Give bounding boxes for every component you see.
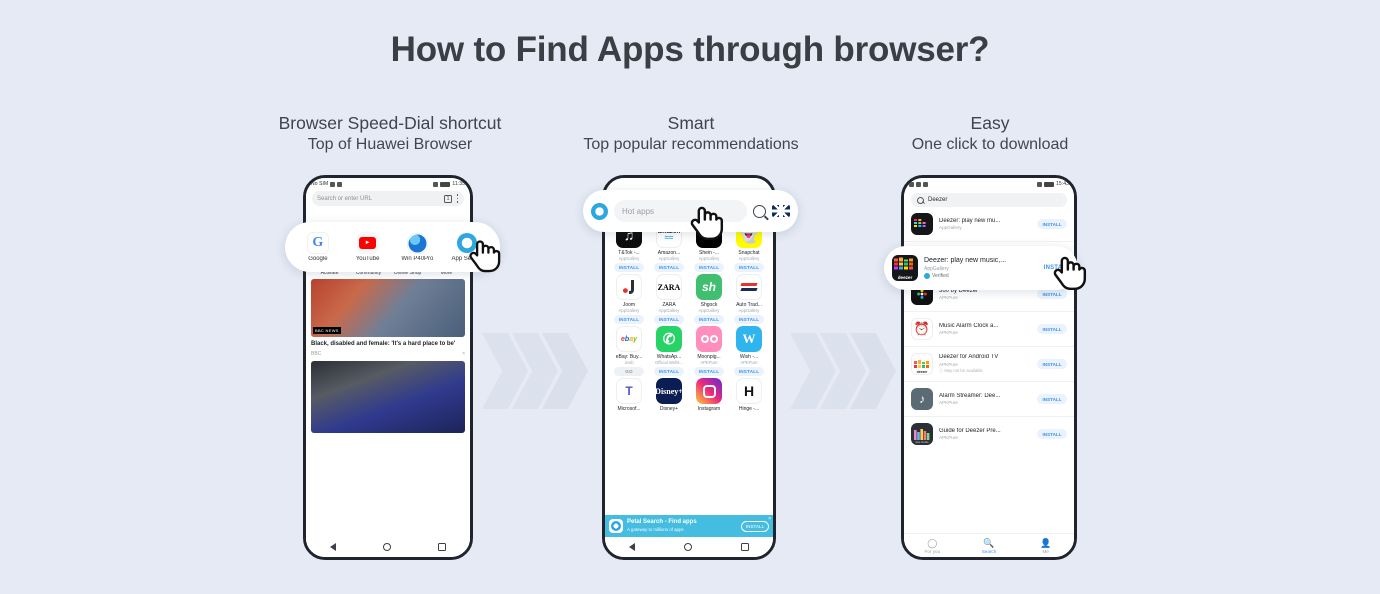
clock-label: 15:43 [1056,181,1069,187]
search-query: Deezer [928,197,947,203]
tab-count-button[interactable]: 1 [444,195,452,203]
bottom-tab-bar[interactable]: ◯ For you 🔍 Search 👤 Me [904,533,1074,557]
app-cell[interactable]: sh Shgock AppGallery INSTALL [689,274,729,324]
install-button[interactable]: INSTALL [734,263,764,272]
install-button[interactable]: INSTALL [734,367,764,376]
search-icon [917,197,924,204]
result-row[interactable]: Deezer: play new mu... AppGallery INSTAL… [904,207,1074,242]
youtube-icon: ► [357,232,379,254]
android-navbar[interactable] [306,537,470,557]
result-row[interactable]: ⏰ Music Alarm Clock a... APKPure INSTALL [904,312,1074,347]
callout-app-name: Deezer: play new music,... [924,257,1038,264]
result-row[interactable]: App Guide Guide for Deezer Pre... APKPur… [904,417,1074,451]
browser-url-bar[interactable]: Search or enter URL 1 [312,191,464,206]
sim-status-label: No SIM [311,181,328,187]
vpn-icon [1037,182,1042,187]
callout-deezer-result[interactable]: deezer Deezer: play new music,... AppGal… [884,246,1078,290]
bluetooth-icon [923,182,928,187]
install-button[interactable]: INSTALL [1037,429,1067,439]
search-icon[interactable] [753,205,766,218]
url-placeholder: Search or enter URL [317,196,444,202]
column-3-title: Easy [810,112,1170,134]
phone-mockup-app-market: 🏅 1 - 16 32 48 64 80 96 ♫ T&Tok -... App… [602,175,776,560]
install-button[interactable]: INSTALL [1037,324,1067,334]
hinge-icon: H [736,378,762,404]
back-icon[interactable] [330,543,336,551]
arrow-group-2 [790,333,902,409]
arrow-group-1 [482,333,594,409]
vpn-icon [433,182,438,187]
petal-search-icon [609,519,623,533]
wish-icon: W [736,326,762,352]
result-name: Music Alarm Clock a... [939,323,1031,329]
promo-banner[interactable]: Petal Search - Find apps A gateway to mi… [605,515,773,537]
column-headings: Browser Speed-Dial shortcut Top of Huawe… [0,112,1380,162]
install-button[interactable]: INSTALL [654,263,684,272]
whatsapp-icon: ✆ [656,326,682,352]
app-cell[interactable]: ebay eBay: Buy... Joob GO [609,326,649,376]
zara-icon: ZARA [656,274,682,300]
battery-icon [1044,182,1054,187]
column-3-subtitle: One click to download [810,134,1170,156]
music-alarm-icon: ⏰ [911,318,933,340]
back-icon[interactable] [629,543,635,551]
uk-flag-icon[interactable] [772,205,790,217]
app-cell[interactable]: ZARA ZARA AppGallery INSTALL [649,274,689,324]
callout-item-google[interactable]: G Google [293,232,343,262]
instagram-icon [696,378,722,404]
result-name: Deezer: play new mu... [939,218,1031,224]
result-row[interactable]: ♪ Alarm Streamer: Dee... APKPure INSTALL [904,382,1074,417]
wifi-icon [330,182,335,187]
deezer-icon [911,213,933,235]
tab-me[interactable]: 👤 Me [1017,538,1074,554]
bluetooth-icon [337,182,342,187]
app-cell[interactable]: T Microsof... [609,378,649,412]
tab-search[interactable]: 🔍 Search [961,538,1018,554]
phone-mockup-search-results: 15:43 Deezer [901,175,1077,560]
status-bar: 15:43 [904,178,1074,190]
news-image: BBC NEWS [311,279,465,337]
page-title: How to Find Apps through browser? [0,30,1380,70]
result-source: APKPure [939,400,1031,405]
app-cell[interactable]: H Hinge -... [729,378,769,412]
install-button[interactable]: INSTALL [1044,265,1070,271]
app-grid[interactable]: ♫ T&Tok -... AppGallery INSTALL amazon ≈… [605,220,773,414]
result-name: Guide for Deezer Pre... [939,428,1031,434]
app-cell[interactable]: Moonpig... APKPure INSTALL [689,326,729,376]
moonpig-icon [696,326,722,352]
android-navbar[interactable] [605,537,773,557]
app-cell[interactable]: Instagram [689,378,729,412]
install-button[interactable]: INSTALL [1037,394,1067,404]
callout-item-app-search[interactable]: App Search [442,232,492,262]
me-icon: 👤 [1017,538,1074,549]
install-button[interactable]: INSTALL [614,315,644,324]
ebay-icon: ebay [616,326,642,352]
battery-icon [440,182,450,187]
install-button[interactable]: INSTALL [614,263,644,272]
install-button[interactable]: INSTALL [1037,219,1067,229]
callout-app-source: AppGallery [924,266,1038,272]
close-icon[interactable]: × [462,351,465,357]
column-heading-3: Easy One click to download [810,112,1170,156]
for-you-icon: ◯ [904,538,961,549]
tab-for-you[interactable]: ◯ For you [904,538,961,554]
deezer-tv-icon: deezer [911,353,933,375]
callout-item-win-p40pro[interactable]: Win P40Pro [393,232,443,262]
news-source-row: BBC × [311,351,465,357]
install-button[interactable]: INSTALL [1037,289,1067,299]
callout-hot-apps-search[interactable]: Hot apps [583,190,798,232]
app-cell[interactable]: ✆ WhatsAp... Official Webs... INSTALL [649,326,689,376]
petal-search-logo-icon [591,203,608,220]
go-button[interactable]: GO [614,367,644,376]
app-cell[interactable]: Auto Trad... AppGallery INSTALL [729,274,769,324]
result-source: APKPure [939,330,1031,335]
install-button[interactable]: INSTALL [654,315,684,324]
autotrader-icon [736,274,762,300]
install-button[interactable]: INSTALL [694,315,724,324]
infographic-page: How to Find Apps through browser? Browse… [0,0,1380,594]
results-list[interactable]: Deezer: play new mu... AppGallery INSTAL… [904,207,1074,451]
huawei-globe-icon [406,232,428,254]
alarm-streamer-icon: ♪ [911,388,933,410]
result-row[interactable]: deezer Deezer for Android TV APKPure ⓘ M… [904,347,1074,382]
news-source: BBC [311,351,321,357]
wifi-icon [916,182,921,187]
close-icon[interactable]: × [768,516,771,522]
news-card[interactable]: BBC NEWS Black, disabled and female: 'It… [311,279,465,433]
install-button[interactable]: INSTALL [694,367,724,376]
deezer-icon: deezer [892,255,918,281]
app-cell[interactable]: Disney+ Disney+ [649,378,689,412]
disney-plus-icon: Disney+ [656,378,682,404]
alarm-icon [909,182,914,187]
search-input[interactable]: Deezer [911,193,1067,207]
verified-icon [924,273,930,279]
result-source: APKPure [939,362,1031,367]
install-button[interactable]: INSTALL [654,367,684,376]
news-badge: BBC NEWS [313,327,341,334]
search-icon: 🔍 [961,538,1018,549]
recents-icon[interactable] [741,543,749,551]
install-button[interactable]: INSTALL [694,263,724,272]
app-cell[interactable]: W Wish -... APKPure INSTALL [729,326,769,376]
verified-badge: Verified [924,273,1038,279]
hot-apps-input[interactable]: Hot apps [614,200,747,222]
news-headline: Black, disabled and female: 'It's a hard… [311,340,465,348]
status-bar: No SIM 11:35 [306,178,470,190]
recents-icon[interactable] [438,543,446,551]
petal-search-icon [456,232,478,254]
callout-item-youtube[interactable]: ► YouTube [343,232,393,262]
result-name: Deezer for Android TV [939,354,1031,360]
result-source: AppGallery [939,225,1031,230]
callout-speed-dial[interactable]: G Google ► YouTube Win P40Pro App Search [285,222,500,272]
result-source: APKPure [939,435,1031,440]
result-note: ⓘ May not be available [939,368,1031,374]
install-button[interactable]: INSTALL [734,315,764,324]
joom-icon [616,274,642,300]
promo-title: Petal Search - Find apps [627,519,737,526]
promo-install-button[interactable]: INSTALL [741,521,769,532]
news-image-2 [311,361,465,433]
home-icon[interactable] [684,543,692,551]
result-source: APKPure [939,295,1031,300]
guide-deezer-icon: App Guide [911,423,933,445]
clock-label: 11:35 [452,181,465,187]
shgock-icon: sh [696,274,722,300]
install-button[interactable]: INSTALL [1037,359,1067,369]
menu-icon[interactable] [456,194,459,203]
result-name: Alarm Streamer: Dee... [939,393,1031,399]
microsoft-teams-icon: T [616,378,642,404]
home-icon[interactable] [383,543,391,551]
app-cell[interactable]: Joom AppGallery INSTALL [609,274,649,324]
promo-subtitle: A gateway to millions of apps [627,526,737,533]
google-icon: G [307,232,329,254]
